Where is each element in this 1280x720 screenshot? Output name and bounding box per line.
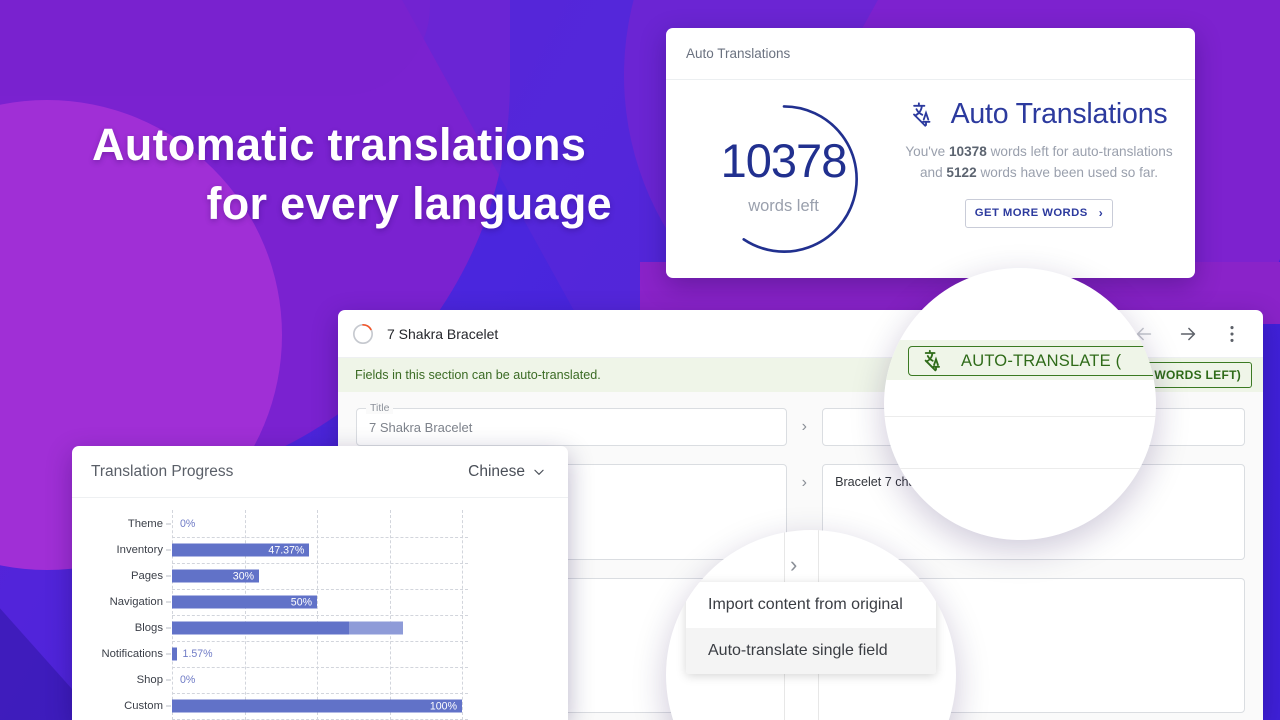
auto-translate-notice-text: Fields in this section can be auto-trans… [355, 368, 601, 382]
translation-progress-header: Translation Progress Chinese [72, 446, 568, 498]
chart-category-label: Custom [124, 700, 163, 712]
words-left-number: 10378 [721, 137, 847, 184]
language-selector[interactable]: Chinese [468, 463, 546, 481]
headline-line-2: for every language [92, 175, 612, 234]
chart-value-label: 61% [360, 621, 393, 635]
chart-value-label: 30% [233, 570, 254, 582]
chart-axis-tick [166, 602, 171, 603]
desc-suffix: words have been used so far. [977, 165, 1158, 180]
translation-progress-card: Translation Progress Chinese Theme0%Inve… [72, 446, 568, 720]
title-source-value: 7 Shakra Bracelet [369, 420, 472, 435]
background-band-top-left [0, 0, 430, 96]
context-menu-item-import[interactable]: Import content from original [686, 582, 936, 628]
context-menu: Import content from original Auto-transl… [686, 582, 936, 674]
chevron-right-icon: › [802, 418, 807, 436]
chart-category-label: Navigation [110, 596, 163, 608]
chart-category-label: Pages [131, 570, 163, 582]
chart-bar[interactable] [172, 648, 177, 661]
magnified-auto-translate-button[interactable]: AUTO-TRANSLATE ( [908, 346, 1156, 376]
context-menu-item-auto-translate-single[interactable]: Auto-translate single field [686, 628, 936, 674]
translation-progress-chart: Theme0%Inventory47.37%Pages30%Navigation… [72, 498, 568, 720]
auto-translations-card-body: 10378 words left Auto Translations You'v… [666, 80, 1195, 278]
chart-gridline-horizontal [172, 693, 468, 694]
translate-icon [923, 348, 949, 374]
words-left-gauge: 10378 words left [666, 80, 901, 278]
chart-gridline-horizontal [172, 589, 468, 590]
get-more-words-label: GET MORE WORDS [975, 207, 1088, 219]
translate-icon [911, 100, 941, 130]
chart-gridline-horizontal [172, 641, 468, 642]
chart-category-label: Shop [137, 674, 163, 686]
language-selector-value: Chinese [468, 463, 525, 481]
chart-axis-tick [166, 654, 171, 655]
words-left-caption: words left [748, 197, 819, 216]
context-menu-item-import-label: Import content from original [708, 596, 903, 614]
auto-translations-title-row: Auto Translations [905, 98, 1173, 131]
auto-translations-description: You've 10378 words left for auto-transla… [905, 142, 1173, 184]
context-menu-item-auto-translate-single-label: Auto-translate single field [708, 642, 888, 660]
magnified-auto-translate-label: AUTO-TRANSLATE ( [961, 352, 1121, 371]
chart-value-label: 100% [430, 700, 457, 712]
title-field-label: Title [366, 402, 393, 414]
magnified-chevron-right-icon[interactable]: › [790, 552, 797, 578]
chart-bar[interactable]: 50% [172, 596, 317, 609]
chart-bar[interactable]: 30% [172, 570, 259, 583]
chart-value-label: 0% [180, 518, 195, 530]
chart-gridline-horizontal [172, 563, 468, 564]
chart-axis-tick [166, 550, 171, 551]
chart-axis-tick [166, 576, 171, 577]
chevron-right-icon: › [802, 474, 807, 492]
magnified-divider-2 [884, 468, 1156, 469]
chart-axis-tick [166, 628, 171, 629]
chart-category-label: Notifications [101, 648, 163, 660]
chart-axis-tick [166, 524, 171, 525]
chart-gridline-horizontal [172, 537, 468, 538]
title-source-input[interactable]: Title 7 Shakra Bracelet [356, 408, 787, 446]
desc-words-used: 5122 [946, 165, 976, 180]
progress-ring-icon [352, 323, 374, 345]
translation-progress-title: Translation Progress [91, 463, 233, 481]
copy-to-target-arrow[interactable]: › [787, 408, 822, 446]
magnifier-auto-translate: AUTO-TRANSLATE ( Bracelet 7 chakras, c [884, 268, 1156, 540]
magnified-divider-1 [884, 416, 1156, 417]
chevron-right-icon: › [1099, 206, 1103, 220]
chart-bar[interactable]: 47.37% [172, 544, 309, 557]
get-more-words-button[interactable]: GET MORE WORDS › [965, 199, 1113, 228]
chevron-down-icon [532, 465, 546, 479]
chart-value-label: 1.57% [183, 648, 213, 660]
chart-value-label: 0% [180, 674, 195, 686]
chart-axis-tick [166, 680, 171, 681]
chart-category-label: Theme [128, 518, 163, 530]
chart-category-label: Inventory [117, 544, 163, 556]
desc-prefix: You've [905, 144, 949, 159]
chart-bar[interactable]: 100% [172, 700, 462, 713]
desc-words-left: 10378 [949, 144, 987, 159]
auto-translations-info: Auto Translations You've 10378 words lef… [901, 80, 1195, 278]
chart-gridline-horizontal [172, 615, 468, 616]
copy-to-target-arrow-2[interactable]: › [787, 464, 822, 502]
promo-screenshot: Automatic translations for every languag… [0, 0, 1280, 720]
chart-category-label: Blogs [135, 622, 163, 634]
auto-translations-title: Auto Translations [951, 98, 1168, 131]
chart-value-label: 47.37% [268, 544, 304, 556]
chart-axis-tick [166, 706, 171, 707]
auto-translations-card: Auto Translations 10378 words left Auto … [666, 28, 1195, 278]
arrow-forward-icon[interactable] [1177, 323, 1199, 345]
auto-translations-card-header-label: Auto Translations [686, 46, 790, 61]
chart-bar[interactable]: 61% [172, 622, 349, 635]
chart-value-label: 50% [291, 596, 312, 608]
chart-gridline-horizontal [172, 667, 468, 668]
more-vertical-icon[interactable] [1221, 323, 1243, 345]
headline: Automatic translations for every languag… [92, 116, 612, 233]
editor-record-title: 7 Shakra Bracelet [387, 326, 498, 342]
headline-line-1: Automatic translations [92, 116, 612, 175]
auto-translations-card-header: Auto Translations [666, 28, 1195, 80]
magnified-description-fragment: Bracelet 7 chakras, c [884, 508, 885, 523]
